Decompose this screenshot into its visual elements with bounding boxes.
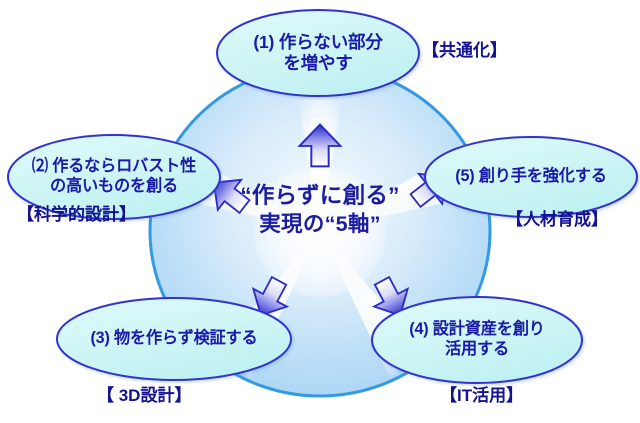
node-label-4[interactable]: (4) 設計資産を創り 活用する <box>374 300 580 380</box>
node-text-3: (3) 物を作らず検証する <box>90 329 257 349</box>
caption-kyotsuka: 【共通化】 <box>422 36 507 61</box>
node-text-5: (5) 創り手を強化する <box>455 167 606 187</box>
center-headline-line1: “作らずに創る” <box>214 182 426 211</box>
caption-jinzai-ikusei: 【人材育成】 <box>506 205 608 230</box>
node-label-5[interactable]: (5) 創り手を強化する <box>428 143 634 211</box>
node-label-1[interactable]: (1) 作らない部分 を増やす <box>219 14 417 92</box>
diagram-canvas: (1) 作らない部分 を増やす ⑵ 作るならロバスト性 の高いものを創る (3)… <box>0 0 640 423</box>
caption-it-katsuyo: 【IT活用】 <box>440 381 523 406</box>
node-text-4: (4) 設計資産を創り 活用する <box>409 320 544 360</box>
caption-3d-sekkei: 【 3D設計】 <box>97 381 191 406</box>
node-label-3[interactable]: (3) 物を作らず検証する <box>60 301 288 377</box>
node-text-2: ⑵ 作るならロバスト性 の高いものを創る <box>32 157 196 197</box>
caption-kagakuteki-sekkei: 【科学的設計】 <box>17 200 136 225</box>
center-headline-line2: 実現の“5軸” <box>214 211 426 239</box>
center-headline: “作らずに創る” 実現の“5軸” <box>214 182 426 238</box>
node-text-1: (1) 作らない部分 を増やす <box>253 32 382 75</box>
